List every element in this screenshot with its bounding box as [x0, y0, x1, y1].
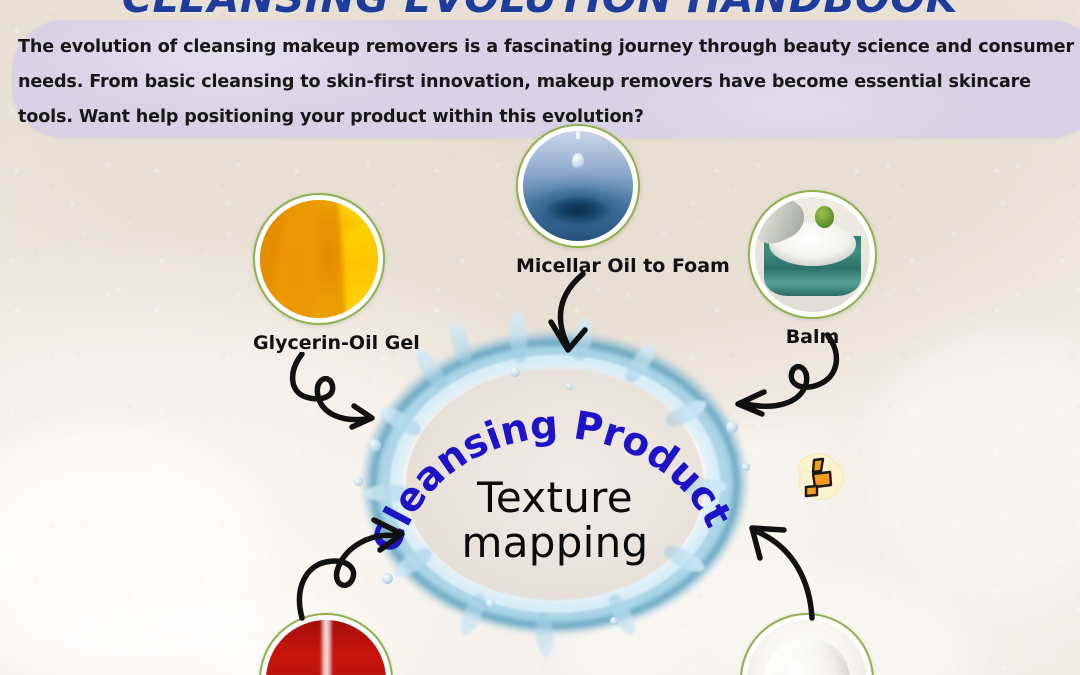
- node-micellar-oil-to-foam[interactable]: Micellar Oil to Foam: [516, 124, 730, 277]
- intro-paragraph: The evolution of cleansing makeup remove…: [18, 30, 1076, 135]
- balm-photo: [748, 190, 877, 319]
- node-bottom-right[interactable]: [740, 613, 874, 675]
- poster-canvas: CLEANSING EVOLUTION HANDBOOK The evoluti…: [0, 0, 1080, 675]
- center-label-line2: mapping: [360, 520, 750, 565]
- center-label: Texture mapping: [360, 475, 750, 565]
- glycerin-oil-gel-photo: [253, 193, 385, 325]
- node-balm[interactable]: Balm: [748, 190, 877, 348]
- page-title: CLEANSING EVOLUTION HANDBOOK: [0, 0, 1080, 22]
- white-cream-photo: [740, 613, 874, 675]
- micellar-oil-to-foam-label: Micellar Oil to Foam: [516, 255, 730, 277]
- orange-sparkle-sticker: [793, 447, 849, 503]
- micellar-oil-to-foam-photo: [516, 124, 640, 248]
- balm-label: Balm: [748, 326, 877, 348]
- center-label-line1: Texture: [360, 475, 750, 520]
- center-splash-group: Cleansing Product Texture mapping: [360, 325, 750, 645]
